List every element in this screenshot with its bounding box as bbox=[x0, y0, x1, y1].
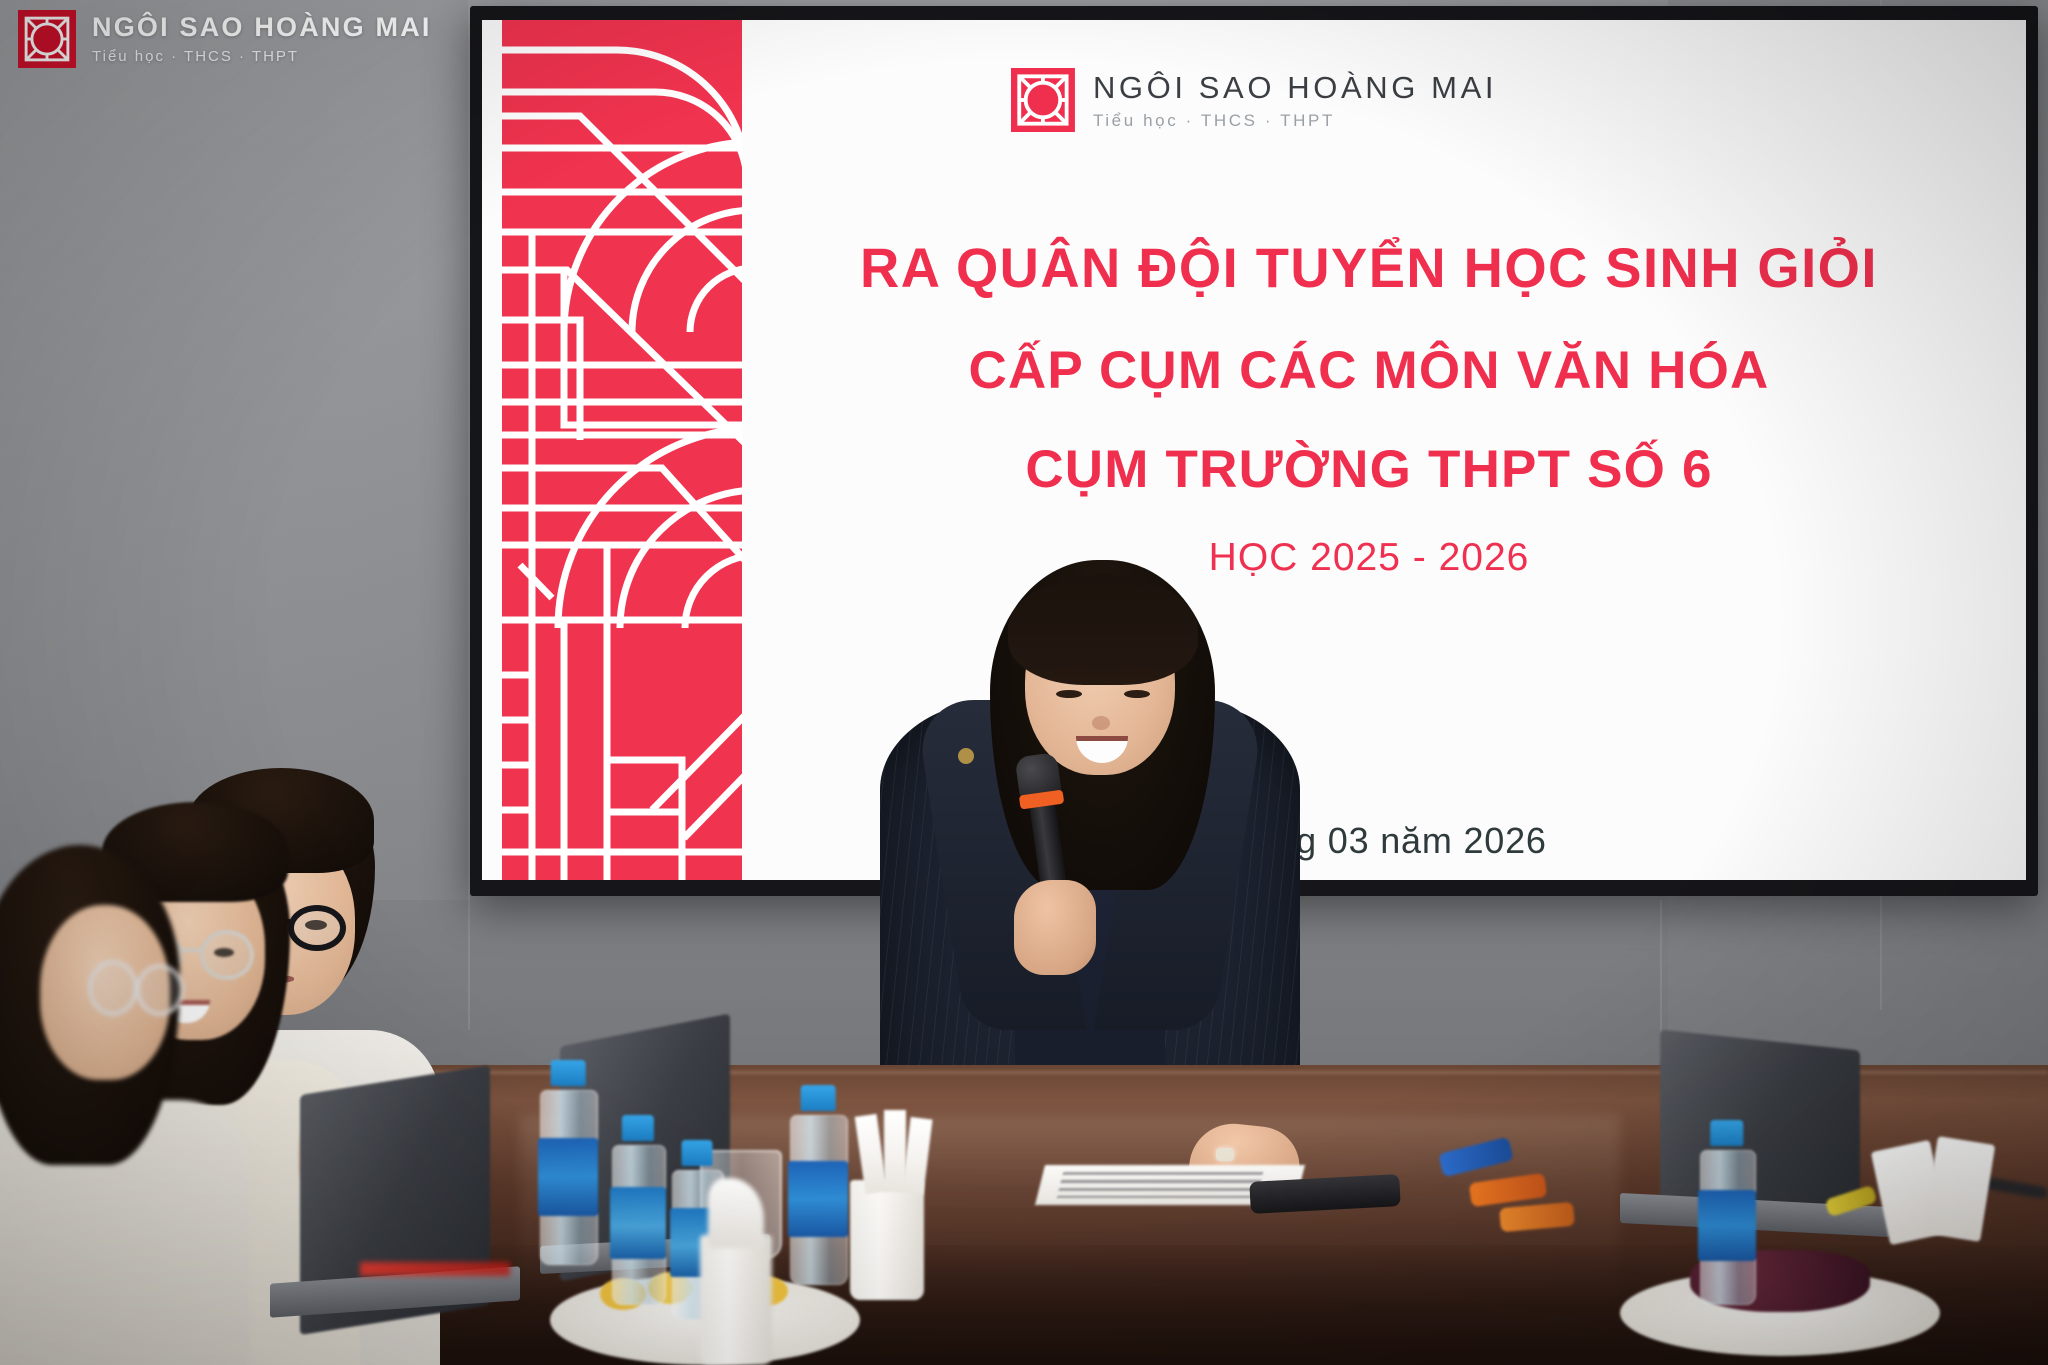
speaker-brow-right bbox=[1120, 668, 1154, 675]
bottle-label bbox=[1698, 1190, 1756, 1260]
bottle-cap bbox=[682, 1140, 713, 1166]
water-bottle-5 bbox=[1700, 1120, 1754, 1305]
watermark-subtitle: Tiểu học · THCS · THPT bbox=[92, 49, 432, 64]
bottle-label bbox=[610, 1187, 666, 1259]
slide-brand-logo: NGÔI SAO HOÀNG MAI Tiểu học · THCS · THP… bbox=[1011, 68, 1497, 132]
speaker-ring bbox=[1216, 1148, 1234, 1161]
bottle-label bbox=[538, 1138, 598, 1216]
water-bottle-1 bbox=[540, 1060, 596, 1265]
watermark-name: NGÔI SAO HOÀNG MAI bbox=[92, 14, 432, 41]
glasses-lens-right bbox=[136, 964, 184, 1016]
glasses-bridge bbox=[181, 948, 202, 952]
slide-brand-name: NGÔI SAO HOÀNG MAI bbox=[1093, 72, 1497, 103]
speaker-eye-right bbox=[1124, 690, 1150, 698]
speaker-hair-front bbox=[1008, 575, 1198, 685]
laptop-left-keyboard-glow bbox=[360, 1262, 510, 1276]
speaker-hand-holding-mic bbox=[1014, 880, 1096, 975]
bottle-cap bbox=[801, 1085, 836, 1111]
bottle-cap bbox=[1710, 1120, 1743, 1146]
art-deco-linework bbox=[502, 20, 742, 880]
glasses-lens-left bbox=[88, 960, 138, 1016]
watermark-logo: NGÔI SAO HOÀNG MAI Tiểu học · THCS · THP… bbox=[18, 10, 432, 68]
bottle-cap bbox=[622, 1115, 654, 1141]
lapel-pin bbox=[958, 748, 974, 764]
speaker-brow-left bbox=[1052, 668, 1086, 675]
slide-title-line-3: CỤM TRƯỜNG THPT SỐ 6 bbox=[752, 439, 1986, 500]
speaker-nose bbox=[1092, 716, 1110, 730]
bottle-cap bbox=[551, 1060, 586, 1086]
slide-title-line-1: RA QUÂN ĐỘI TUYỂN HỌC SINH GIỎI bbox=[771, 235, 1968, 300]
slide-school-year: HỌC 2025 - 2026 bbox=[752, 536, 1986, 580]
paper-cup bbox=[700, 1235, 772, 1365]
attendee-1-glasses bbox=[88, 960, 188, 1016]
water-bottle-4 bbox=[790, 1085, 846, 1285]
glasses-lens-right bbox=[200, 930, 254, 980]
napkin-holder-cup bbox=[850, 1180, 924, 1300]
slide-title-line-2: CẤP CỤM CÁC MÔN VĂN HÓA bbox=[752, 340, 1986, 401]
art-deco-red-panel bbox=[502, 20, 742, 880]
ngoi-sao-hoang-mai-logo-icon bbox=[18, 10, 76, 68]
water-bottle-2 bbox=[612, 1115, 664, 1305]
speaker-eye-left bbox=[1056, 690, 1082, 698]
document-text-lines bbox=[1057, 1172, 1263, 1198]
bottle-label bbox=[788, 1161, 848, 1237]
slide-title-block: RA QUÂN ĐỘI TUYỂN HỌC SINH GIỎI CẤP CỤM … bbox=[752, 235, 1986, 580]
screenshot-root: NGÔI SAO HOÀNG MAI Tiểu học · THCS · THP… bbox=[0, 0, 2048, 1365]
wall-panel-left bbox=[0, 0, 470, 900]
glasses-lens-right bbox=[288, 905, 346, 951]
ngoi-sao-hoang-mai-logo-icon bbox=[1011, 68, 1075, 132]
slide-brand-subtitle: Tiểu học · THCS · THPT bbox=[1093, 112, 1497, 129]
